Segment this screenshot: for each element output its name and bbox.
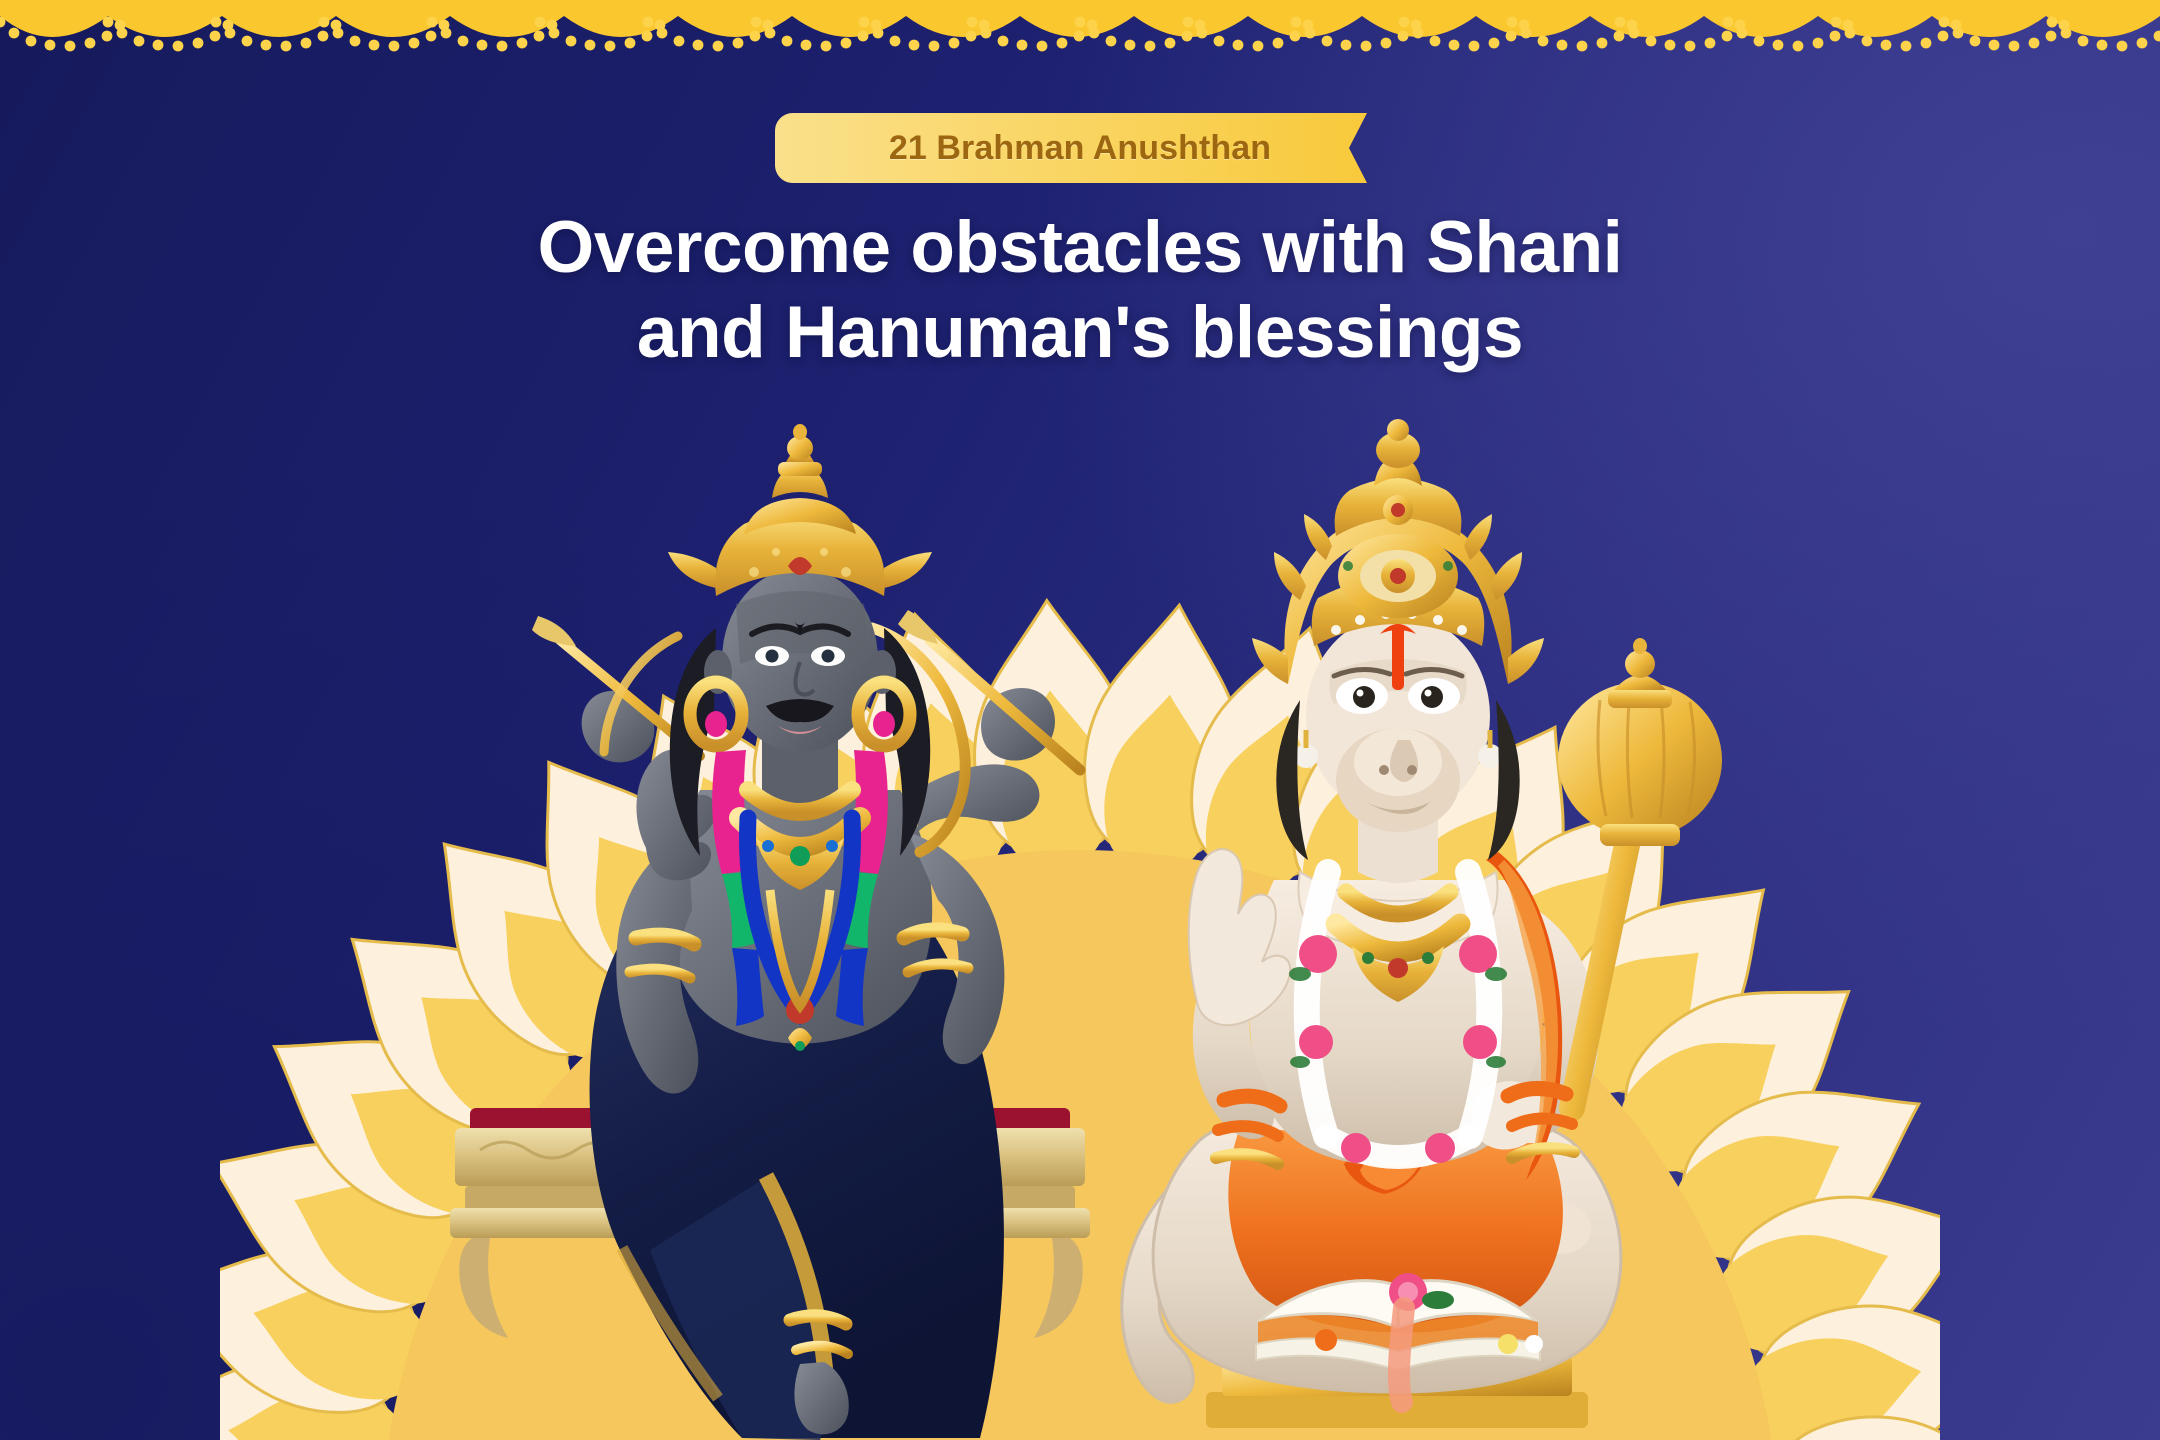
halo-shape <box>220 540 1940 1440</box>
headline-line-2: and Hanuman's blessings <box>0 290 2160 375</box>
lotus-petal-halo <box>220 540 1940 1440</box>
scallop-dot-row <box>0 17 2160 52</box>
poster-canvas: 21 Brahman Anushthan Overcome obstacles … <box>0 0 2160 1440</box>
scalloped-top-banner <box>0 0 2160 58</box>
scallop-shape <box>0 0 2160 58</box>
page-title: Overcome obstacles with Shani and Hanuma… <box>0 205 2160 376</box>
headline-line-1: Overcome obstacles with Shani <box>0 205 2160 290</box>
badge-label: 21 Brahman Anushthan <box>775 113 1385 183</box>
category-badge: 21 Brahman Anushthan <box>775 113 1385 183</box>
